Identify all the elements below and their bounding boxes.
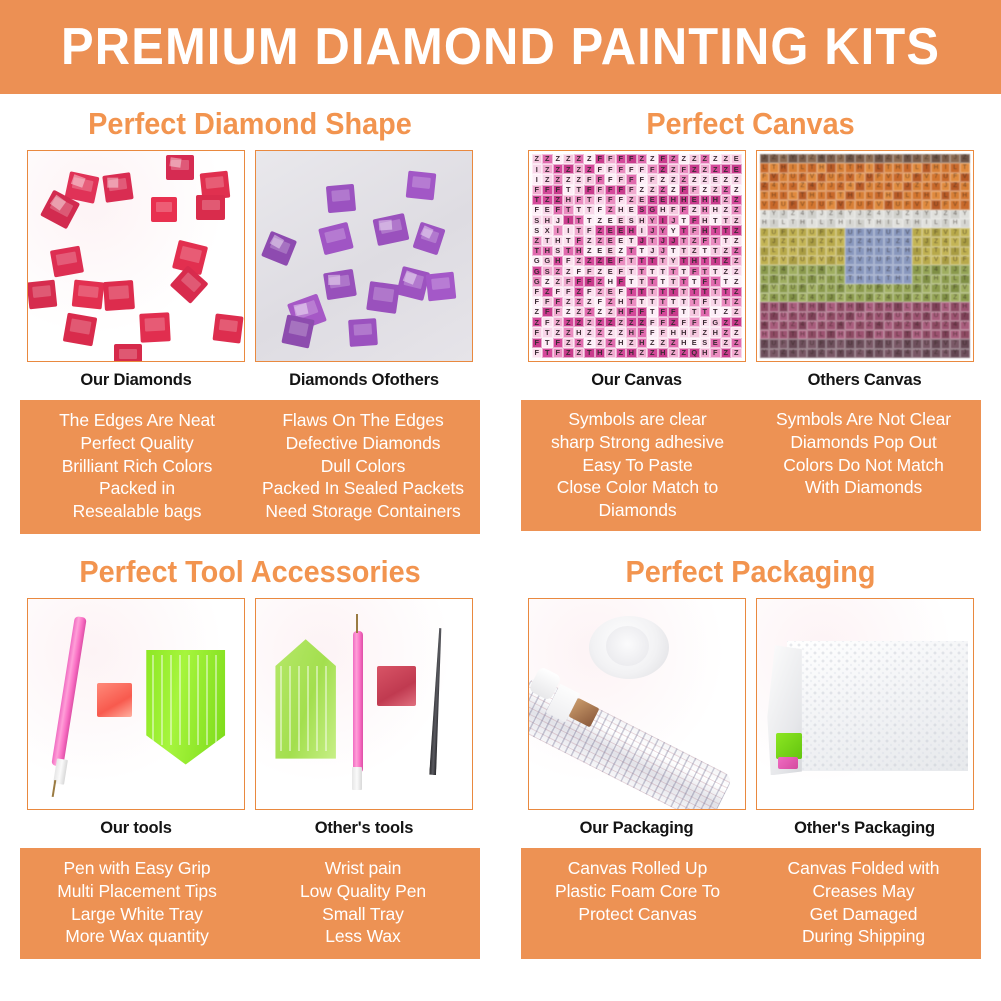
caption-our-packaging: Our Packaging [528,819,746,838]
text-column-others: Canvas Folded with Creases May Get Damag… [751,857,977,948]
wax-square [377,666,416,706]
section-canvas: Perfect Canvas ZZZZZZFFFFZZFZZZZZZEIZZZZ… [500,94,1001,542]
purple-bead [348,318,378,347]
page-title: PREMIUM DIAMOND PAINTING KITS [61,17,940,77]
photo-our-diamonds [27,150,245,362]
section-title-tool-accessories: Perfect Tool Accessories [25,554,475,590]
photo-our-tools [27,598,245,810]
wax-square [97,683,132,717]
caption-other-tools: Other's tools [255,819,473,838]
compare-cell-our-tools: Our tools [27,598,245,838]
symbol-grid: ZZZZZZFFFFZZFZZZZZZEIZZZZZFFFFFFZZFZZZZE… [532,154,742,358]
red-bead [212,313,243,344]
section-title-canvas: Perfect Canvas [525,106,976,142]
photo-other-tools [255,598,473,810]
pen-tip [352,767,362,790]
photo-pair-tools: Our tools Other's tools [8,598,492,838]
compare-cell-others-canvas: JZ4YJZ4YJZ4YJZ4YJZ4YJZLTHILTHILTHILTHILT… [756,150,974,390]
section-title-diamond-shape: Perfect Diamond Shape [25,106,475,142]
compare-cell-our-diamonds: Our Diamonds [27,150,245,390]
text-column-others: Flaws On The Edges Defective Diamonds Du… [250,409,476,523]
section-packaging: Perfect Packaging Our Packaging [500,542,1001,1001]
pink-pen-peeking [778,757,797,770]
tray-grooves [152,655,219,745]
purple-bead [323,268,357,300]
photo-our-packaging [528,598,746,810]
red-bead [72,280,105,310]
section-title-packaging: Perfect Packaging [525,554,976,590]
compare-cell-our-canvas: ZZZZZZFFFFZZFZZZZZZEIZZZZZFFFFFFZZFZZZZE… [528,150,746,390]
red-bead [27,280,57,310]
bubble-wrap-texture [787,641,968,771]
caption-our-tools: Our tools [27,819,245,838]
textbox-diamond-shape: The Edges Are Neat Perfect Quality Brill… [20,400,480,534]
bubble-mailer [787,641,968,771]
purple-bead [425,271,456,301]
red-bead [50,245,85,277]
photo-other-diamonds [255,150,473,362]
text-column-others: Wrist pain Low Quality Pen Small Tray Le… [250,857,476,948]
compare-cell-other-diamonds: Diamonds Ofothers [255,150,473,390]
compare-cell-other-tools: Other's tools [255,598,473,838]
photo-pair-canvas: ZZZZZZFFFFZZFZZZZZZEIZZZZZFFFFFFZZFZZZZE… [508,150,993,390]
caption-other-packaging: Other's Packaging [756,819,974,838]
textbox-canvas: Symbols are clear sharp Strong adhesive … [521,400,981,531]
red-bead [140,312,172,343]
photo-others-canvas: JZ4YJZ4YJZ4YJZ4YJZ4YJZLTHILTHILTHILTHILT… [756,150,974,362]
drill-pen [353,631,363,774]
text-column-ours: Canvas Rolled Up Plastic Foam Core To Pr… [525,857,751,948]
purple-bead [406,171,437,201]
text-column-ours: The Edges Are Neat Perfect Quality Brill… [24,409,250,523]
red-bead [103,280,135,311]
infographic-page: PREMIUM DIAMOND PAINTING KITS Perfect Di… [0,0,1001,1001]
photo-other-packaging [756,598,974,810]
blurry-symbol-grid: JZ4YJZ4YJZ4YJZ4YJZ4YJZLTHILTHILTHILTHILT… [760,154,970,358]
tray-grooves [280,666,331,751]
purple-bead [366,281,400,314]
page-header-banner: PREMIUM DIAMOND PAINTING KITS [0,0,1001,94]
text-column-others: Symbols Are Not Clear Diamonds Pop Out C… [751,408,977,522]
text-column-ours: Symbols are clear sharp Strong adhesive … [525,408,751,522]
photo-pair-diamond-shape: Our Diamonds [8,150,492,390]
red-bead [166,155,194,180]
comparison-grid: Perfect Diamond Shape [0,94,1001,1001]
text-column-ours: Pen with Easy Grip Multi Placement Tips … [24,857,250,948]
compare-cell-other-packaging: Other's Packaging [756,598,974,838]
red-bead [151,197,177,222]
green-tray-peeking [776,733,802,758]
textbox-packaging: Canvas Rolled Up Plastic Foam Core To Pr… [521,848,981,959]
red-bead [62,312,97,346]
caption-others-canvas: Others Canvas [756,371,974,390]
textbox-tools: Pen with Easy Grip Multi Placement Tips … [20,848,480,959]
section-diamond-shape: Perfect Diamond Shape [0,94,500,542]
section-tool-accessories: Perfect Tool Accessories Our tools [0,542,500,1001]
caption-our-canvas: Our Canvas [528,371,746,390]
caption-our-diamonds: Our Diamonds [27,371,245,390]
photo-our-canvas: ZZZZZZFFFFZZFZZZZZZEIZZZZZFFFFFFZZFZZZZE… [528,150,746,362]
photo-pair-packaging: Our Packaging Other's Packaging [508,598,993,838]
pen-needle [356,614,358,633]
red-bead [102,172,134,203]
red-bead [196,195,224,220]
purple-bead [326,183,356,213]
red-bead [114,344,142,362]
caption-other-diamonds: Diamonds Ofothers [255,371,473,390]
compare-cell-our-packaging: Our Packaging [528,598,746,838]
